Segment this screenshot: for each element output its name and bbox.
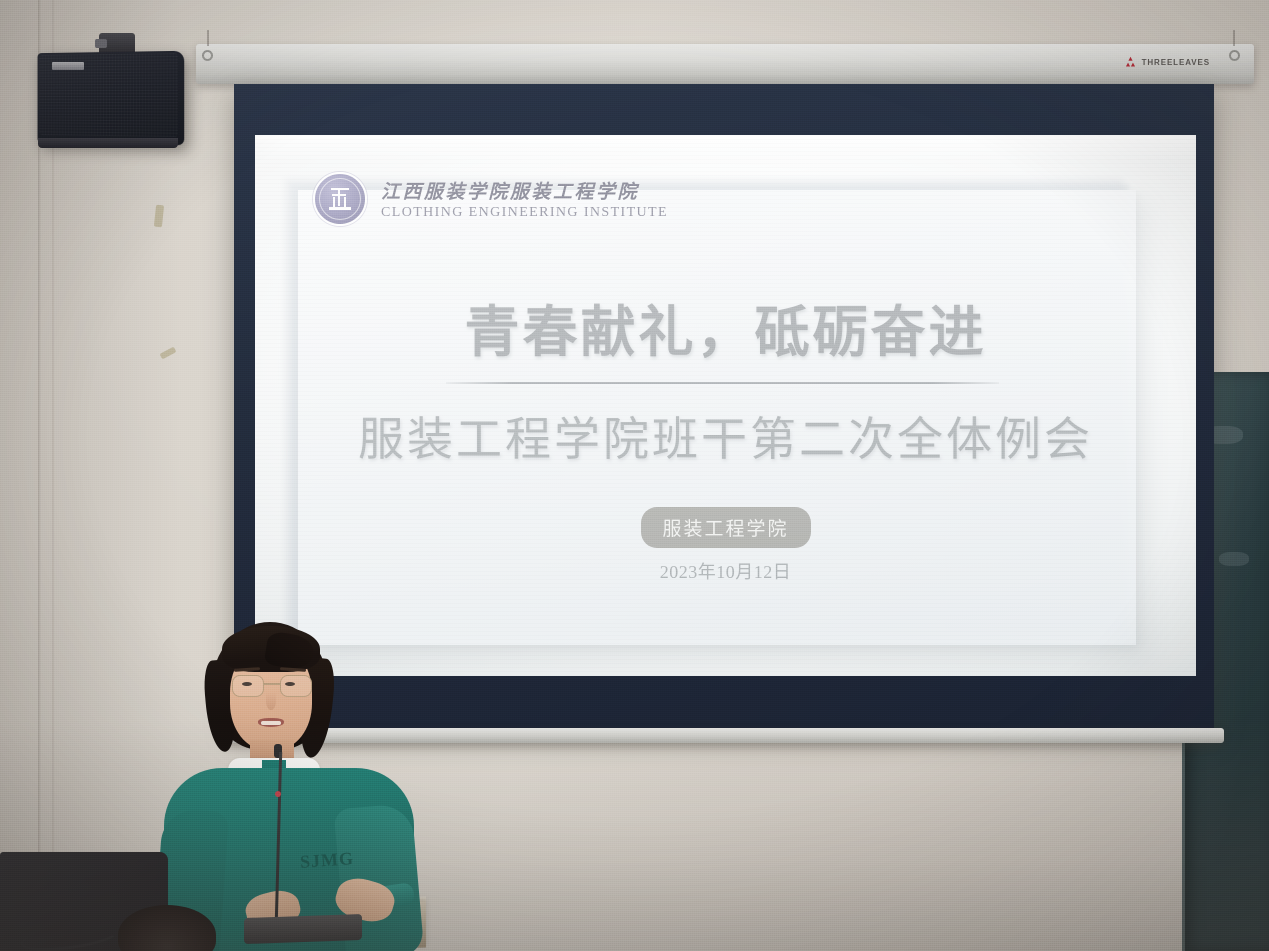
university-seal-icon xyxy=(313,172,367,226)
speaker-base xyxy=(38,138,178,148)
speaker-brand-badge xyxy=(52,62,84,70)
slide-title-divider xyxy=(446,382,999,384)
room-floor-shadow xyxy=(0,721,1269,951)
slide-main-title: 青春献礼，砥砺奋进 xyxy=(255,287,1196,367)
institute-name-en: CLOTHING ENGINEERING INSTITUTE xyxy=(381,205,668,221)
classroom-photo-scene: THREELEAVES xyxy=(0,0,1269,951)
slide-sub-title: 服装工程学院班干第二次全体例会 xyxy=(255,403,1196,469)
screen-casing: THREELEAVES xyxy=(196,44,1254,84)
slide-logo: 江西服装学院服装工程学院 CLOTHING ENGINEERING INSTIT… xyxy=(313,172,668,226)
three-leaf-trefoil-icon xyxy=(1124,56,1137,68)
presenter-hair-fringe xyxy=(222,626,320,672)
presenter-nose xyxy=(266,692,276,710)
screen-brand: THREELEAVES xyxy=(1124,56,1210,68)
slide-org-badge: 服装工程学院 xyxy=(640,507,810,548)
slide-logo-text: 江西服装学院服装工程学院 CLOTHING ENGINEERING INSTIT… xyxy=(381,177,668,221)
slide-date: 2023年10月12日 xyxy=(255,558,1196,584)
screen-hook-icon xyxy=(1229,50,1240,61)
eyeglass-bridge xyxy=(264,683,280,685)
eyeglass-lens xyxy=(232,675,264,697)
seal-glyph xyxy=(329,186,351,212)
eyeglass-lens xyxy=(280,675,312,697)
screen-hanger-wire xyxy=(207,30,209,46)
screen-hanger-wire xyxy=(1233,30,1235,46)
institute-name-cn: 江西服装学院服装工程学院 xyxy=(381,177,668,204)
screen-hook-icon xyxy=(202,50,213,61)
screen-brand-label: THREELEAVES xyxy=(1142,58,1210,67)
projected-slide-area: 江西服装学院服装工程学院 CLOTHING ENGINEERING INSTIT… xyxy=(255,135,1196,676)
slide: 江西服装学院服装工程学院 CLOTHING ENGINEERING INSTIT… xyxy=(255,135,1196,676)
